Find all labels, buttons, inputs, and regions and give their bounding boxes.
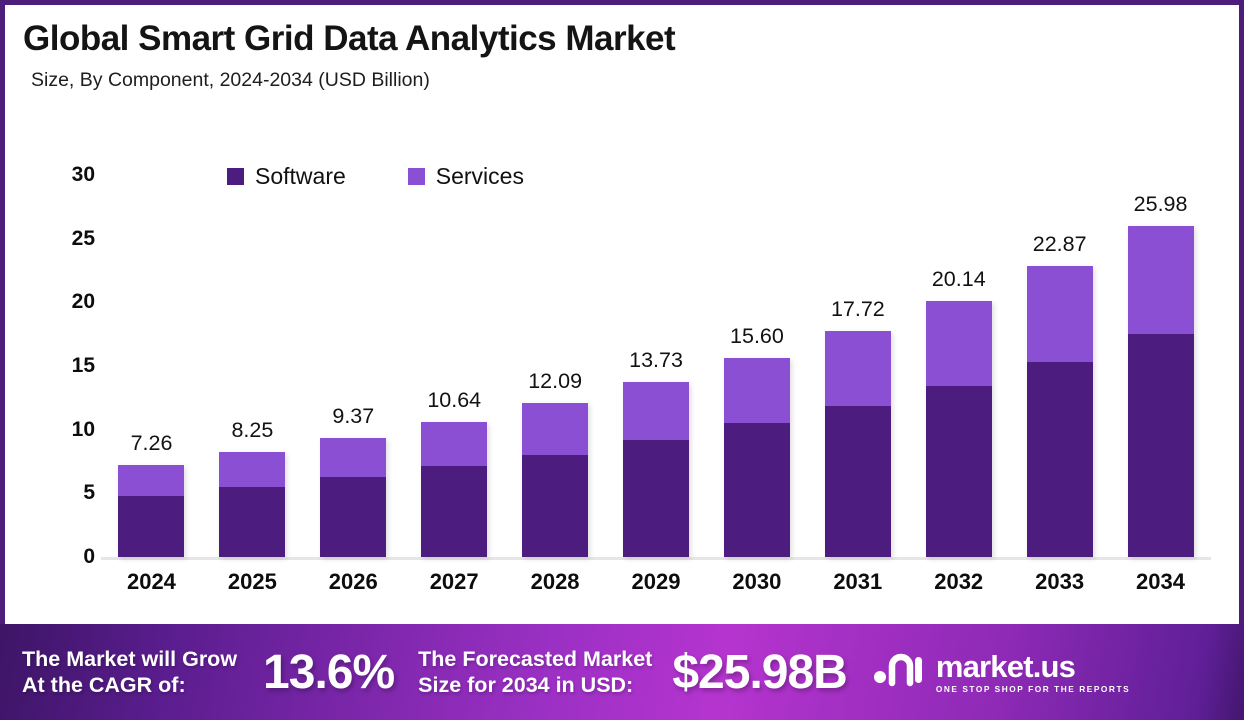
logo-wordmark: market.us <box>936 651 1130 682</box>
infographic-root: Global Smart Grid Data Analytics Market … <box>0 0 1244 720</box>
bar-segment-services[interactable] <box>1128 226 1194 334</box>
x-axis-tick: 2031 <box>807 569 908 595</box>
bar-group[interactable]: 13.73 <box>606 117 707 557</box>
x-axis-tick: 2028 <box>505 569 606 595</box>
y-axis-tick: 30 <box>39 163 95 187</box>
bar-segment-software[interactable] <box>1027 362 1093 557</box>
stacked-bar[interactable] <box>825 331 891 557</box>
cagr-caption-line2: At the CAGR of: <box>22 672 237 698</box>
x-axis-baseline <box>101 557 1211 560</box>
bar-segment-software[interactable] <box>219 487 285 557</box>
legend-item-software[interactable]: Software <box>227 163 346 190</box>
bar-segment-software[interactable] <box>118 496 184 557</box>
bar-group[interactable]: 22.87 <box>1009 117 1110 557</box>
chart-legend: SoftwareServices <box>227 163 524 190</box>
stacked-bar[interactable] <box>421 422 487 557</box>
stacked-bar[interactable] <box>724 358 790 557</box>
x-axis-tick: 2024 <box>101 569 202 595</box>
bar-segment-services[interactable] <box>926 301 992 386</box>
bar-group[interactable]: 15.60 <box>706 117 807 557</box>
stacked-bar[interactable] <box>926 301 992 557</box>
bar-segment-services[interactable] <box>825 331 891 405</box>
bar-segment-services[interactable] <box>1027 266 1093 363</box>
bar-group[interactable]: 25.98 <box>1110 117 1211 557</box>
bar-value-label: 8.25 <box>202 418 303 443</box>
market-us-logo-text: market.us ONE STOP SHOP FOR THE REPORTS <box>936 651 1130 693</box>
x-axis-tick: 2026 <box>303 569 404 595</box>
y-axis-tick: 10 <box>39 418 95 442</box>
bar-segment-software[interactable] <box>825 406 891 557</box>
legend-swatch-icon <box>408 168 425 185</box>
stacked-bar[interactable] <box>320 438 386 557</box>
y-axis-tick: 15 <box>39 354 95 378</box>
legend-item-label: Services <box>436 163 524 190</box>
forecast-caption: The Forecasted Market Size for 2034 in U… <box>418 646 652 698</box>
legend-swatch-icon <box>227 168 244 185</box>
stacked-bar[interactable] <box>522 403 588 557</box>
logo-tagline: ONE STOP SHOP FOR THE REPORTS <box>936 685 1130 693</box>
bar-segment-software[interactable] <box>1128 334 1194 557</box>
page-title: Global Smart Grid Data Analytics Market <box>5 5 1239 59</box>
bar-value-label: 15.60 <box>706 324 807 349</box>
bar-value-label: 20.14 <box>908 267 1009 292</box>
cagr-caption: The Market will Grow At the CAGR of: <box>22 646 237 698</box>
market-us-logo[interactable]: market.us ONE STOP SHOP FOR THE REPORTS <box>873 651 1130 693</box>
bar-group[interactable]: 7.26 <box>101 117 202 557</box>
market-us-logo-icon <box>873 651 927 692</box>
legend-item-services[interactable]: Services <box>408 163 524 190</box>
bar-segment-services[interactable] <box>320 438 386 477</box>
y-axis-tick: 25 <box>39 227 95 251</box>
bar-segment-software[interactable] <box>320 477 386 557</box>
bar-value-label: 13.73 <box>606 348 707 373</box>
bar-segment-software[interactable] <box>421 466 487 557</box>
bar-segment-services[interactable] <box>724 358 790 423</box>
bar-group[interactable]: 20.14 <box>908 117 1009 557</box>
bar-segment-services[interactable] <box>219 452 285 487</box>
cagr-value: 13.6% <box>263 645 394 700</box>
x-axis-tick: 2033 <box>1009 569 1110 595</box>
y-axis-tick: 0 <box>39 545 95 569</box>
bar-value-label: 17.72 <box>807 297 908 322</box>
bar-value-label: 9.37 <box>303 404 404 429</box>
chart-plot-area: 051015202530 7.268.259.3710.6412.0913.73… <box>5 117 1239 625</box>
x-axis: 2024202520262027202820292030203120322033… <box>101 569 1211 595</box>
bar-segment-services[interactable] <box>623 382 689 440</box>
bar-value-label: 22.87 <box>1009 232 1110 257</box>
forecast-value: $25.98B <box>672 645 846 700</box>
forecast-caption-line1: The Forecasted Market <box>418 646 652 672</box>
chart-header: Global Smart Grid Data Analytics Market … <box>5 5 1239 92</box>
x-axis-tick: 2029 <box>606 569 707 595</box>
footer-banner: The Market will Grow At the CAGR of: 13.… <box>0 624 1244 720</box>
y-axis-tick: 20 <box>39 290 95 314</box>
forecast-caption-line2: Size for 2034 in USD: <box>418 672 652 698</box>
stacked-bar[interactable] <box>219 452 285 557</box>
x-axis-tick: 2034 <box>1110 569 1211 595</box>
bar-segment-services[interactable] <box>421 422 487 467</box>
y-axis: 051015202530 <box>39 125 95 561</box>
x-axis-tick: 2032 <box>908 569 1009 595</box>
chart-subtitle: Size, By Component, 2024-2034 (USD Billi… <box>5 59 1239 92</box>
bar-group[interactable]: 17.72 <box>807 117 908 557</box>
y-axis-tick: 5 <box>39 481 95 505</box>
bar-value-label: 12.09 <box>505 369 606 394</box>
stacked-bar[interactable] <box>1128 226 1194 557</box>
stacked-bar[interactable] <box>1027 266 1093 557</box>
stacked-bar[interactable] <box>623 382 689 557</box>
cagr-caption-line1: The Market will Grow <box>22 646 237 672</box>
bar-value-label: 25.98 <box>1110 192 1211 217</box>
bar-segment-software[interactable] <box>926 386 992 557</box>
x-axis-tick: 2030 <box>706 569 807 595</box>
stacked-bar[interactable] <box>118 465 184 557</box>
bar-segment-software[interactable] <box>522 455 588 557</box>
bar-segment-services[interactable] <box>118 465 184 496</box>
bar-segment-software[interactable] <box>623 440 689 557</box>
bar-segment-software[interactable] <box>724 423 790 557</box>
x-axis-tick: 2025 <box>202 569 303 595</box>
legend-item-label: Software <box>255 163 346 190</box>
bar-value-label: 10.64 <box>404 388 505 413</box>
x-axis-tick: 2027 <box>404 569 505 595</box>
bar-segment-services[interactable] <box>522 403 588 455</box>
bar-value-label: 7.26 <box>101 431 202 456</box>
